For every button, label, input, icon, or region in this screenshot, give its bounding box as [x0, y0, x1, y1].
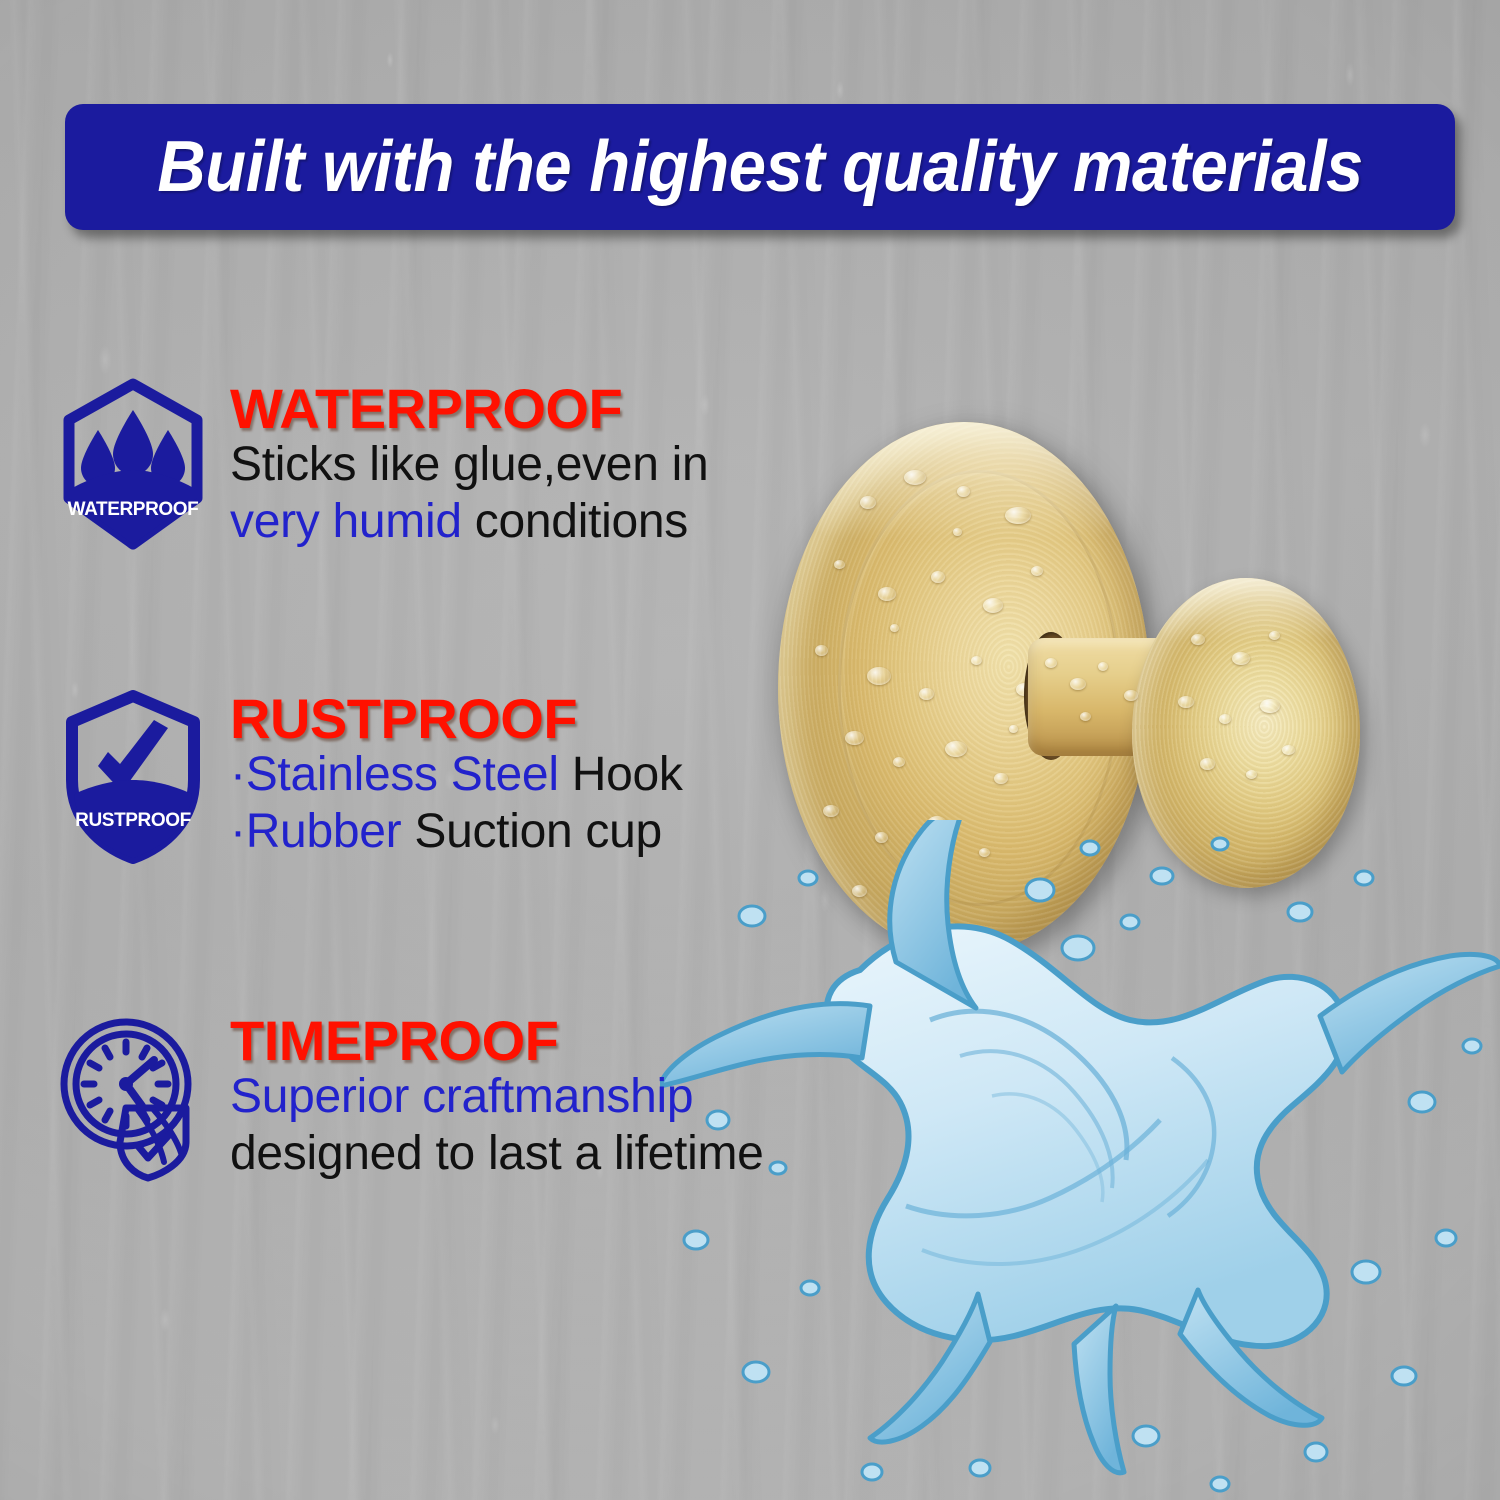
headline-banner: Built with the highest quality materials [65, 104, 1455, 230]
product-feature-infographic: Built with the highest quality materials… [0, 0, 1500, 1500]
text-segment-highlight: Superior craftmanship [230, 1070, 693, 1123]
timeproof-clock-shield-icon [58, 1010, 208, 1182]
hook-knob-cap [1132, 578, 1360, 888]
text-segment-highlight: Stainless Steel [246, 748, 559, 801]
text-segment-highlight: very humid [230, 495, 462, 548]
feature-rustproof: RUSTPROOF RUSTPROOF ·Stainless Steel Hoo… [58, 688, 683, 864]
feature-timeproof: TIMEPROOF Superior craftmanship designed… [58, 1010, 764, 1182]
text-segment: Hook [559, 748, 683, 801]
feature-rustproof-line-1: ·Stainless Steel Hook [230, 747, 683, 804]
feature-rustproof-line-2: ·Rubber Suction cup [230, 804, 683, 861]
text-segment: Sticks like glue,even in [230, 438, 708, 491]
feature-waterproof-text: WATERPROOF Sticks like glue,even in very… [230, 378, 708, 550]
headline-text: Built with the highest quality materials [157, 131, 1362, 203]
feature-timeproof-text: TIMEPROOF Superior craftmanship designed… [230, 1010, 764, 1182]
feature-timeproof-line-2: designed to last a lifetime [230, 1126, 764, 1183]
rustproof-shield-check-icon: RUSTPROOF [58, 688, 208, 864]
feature-waterproof-line-1: Sticks like glue,even in [230, 437, 708, 494]
text-segment-highlight: Rubber [246, 805, 402, 858]
feature-waterproof: WATERPROOF WATERPROOF Sticks like glue,e… [58, 378, 708, 550]
feature-timeproof-title: TIMEPROOF [230, 1012, 764, 1069]
text-segment: designed to last a lifetime [230, 1127, 764, 1180]
svg-text:WATERPROOF: WATERPROOF [68, 499, 199, 520]
bullet-mark: · [230, 748, 246, 801]
text-segment: conditions [462, 495, 688, 548]
feature-timeproof-line-1: Superior craftmanship [230, 1069, 764, 1126]
waterproof-hexagon-badge-icon: WATERPROOF [58, 378, 208, 550]
svg-text:RUSTPROOF: RUSTPROOF [75, 810, 191, 831]
product-image [740, 400, 1400, 1040]
text-segment: Suction cup [401, 805, 662, 858]
feature-waterproof-title: WATERPROOF [230, 380, 708, 437]
feature-rustproof-title: RUSTPROOF [230, 690, 683, 747]
bullet-mark: · [230, 805, 246, 858]
feature-rustproof-text: RUSTPROOF ·Stainless Steel Hook ·Rubber … [230, 688, 683, 860]
feature-waterproof-line-2: very humid conditions [230, 494, 708, 551]
